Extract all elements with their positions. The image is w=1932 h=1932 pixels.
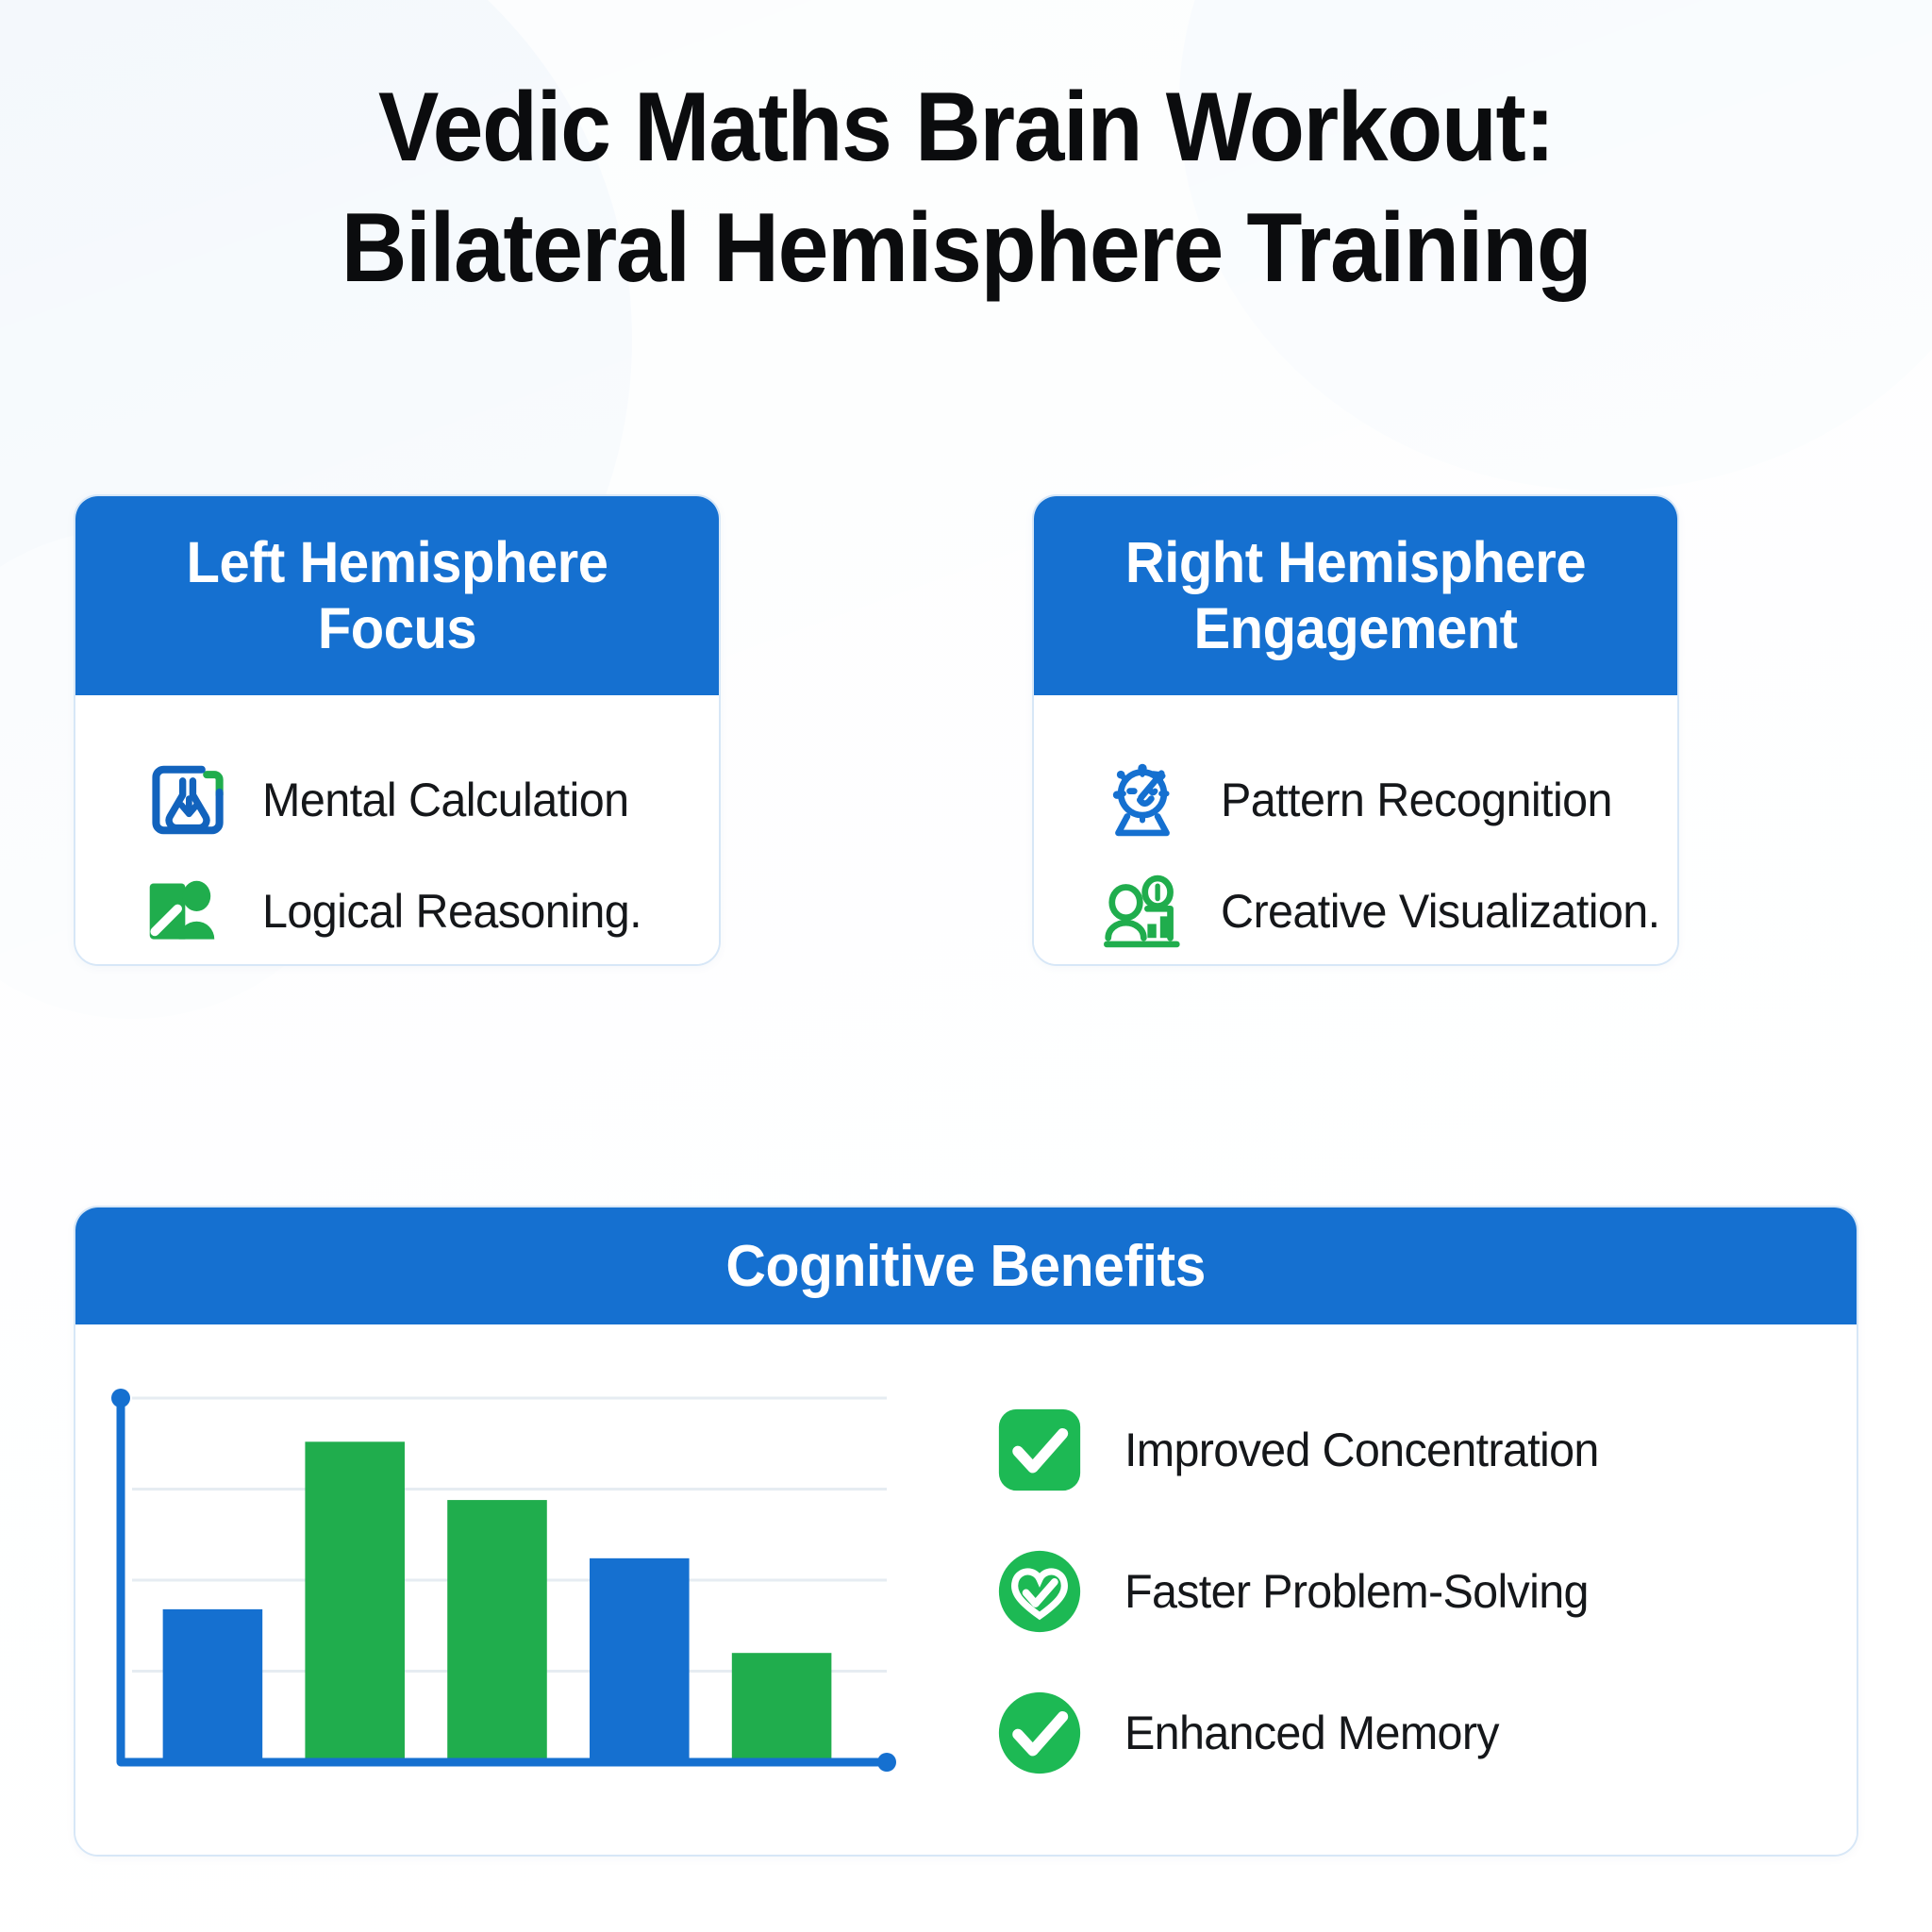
card-cognitive-benefits: Cognitive Benefits Improved Concentratio… [74,1206,1858,1857]
chart-bar-4 [590,1558,690,1762]
card-right-header: Right Hemisphere Engagement [1034,496,1677,695]
chart-bar-3 [447,1500,547,1762]
right-feature-list: Pattern Recognition [1034,695,1677,966]
card-left-body: Mental Calculation Logical Reasoning. [75,695,719,966]
chart-axis-cap-top [111,1389,130,1407]
list-item-label: Faster Problem-Solving [1124,1564,1589,1619]
page-title-line-1: Vedic Maths Brain Workout: [68,68,1865,189]
card-right-hemisphere: Right Hemisphere Engagement [1032,494,1679,966]
list-item[interactable]: Mental Calculation [75,744,719,856]
list-item[interactable]: Enhanced Memory [996,1662,1857,1804]
card-left-hemisphere: Left Hemisphere Focus Mental Calculation [74,494,721,966]
list-item[interactable]: Creative Visualization. [1034,856,1677,966]
card-left-header-text: Left Hemisphere Focus [124,530,671,661]
list-item-label: Creative Visualization. [1221,884,1660,939]
heart-check-circle-icon [996,1548,1083,1635]
list-item-label: Mental Calculation [262,773,629,827]
card-right-body: Pattern Recognition [1034,695,1677,966]
chart-bar-2 [305,1441,405,1762]
person-board-icon [143,871,225,952]
check-circle-icon [996,1690,1083,1776]
list-item[interactable]: Pattern Recognition [1034,744,1677,856]
list-item-label: Enhanced Memory [1124,1706,1499,1760]
person-idea-chart-icon [1102,871,1183,952]
chart-bar-1 [163,1609,263,1762]
card-benefits-header: Cognitive Benefits [75,1207,1857,1324]
list-item[interactable]: Improved Concentration [996,1379,1857,1521]
card-benefits-header-text: Cognitive Benefits [726,1233,1207,1300]
smiley-compass-icon [1102,759,1183,841]
card-left-header: Left Hemisphere Focus [75,496,719,695]
flask-document-icon [143,759,225,841]
left-feature-list: Mental Calculation Logical Reasoning. [75,695,719,966]
page-title: Vedic Maths Brain Workout: Bilateral Hem… [0,68,1932,309]
list-item[interactable]: Logical Reasoning. [75,856,719,966]
card-benefits-body: Improved Concentration Faster Problem-So… [75,1324,1857,1855]
infographic-page: Vedic Maths Brain Workout: Bilateral Hem… [0,0,1932,1932]
list-item-label: Pattern Recognition [1221,773,1612,827]
chart-bar-5 [732,1653,832,1762]
cognitive-benefits-bar-chart [75,1324,953,1855]
list-item-label: Logical Reasoning. [262,884,641,939]
page-title-line-2: Bilateral Hemisphere Training [68,189,1865,309]
list-item-label: Improved Concentration [1124,1423,1599,1477]
benefits-list: Improved Concentration Faster Problem-So… [953,1324,1857,1855]
chart-axis-cap-end [877,1753,896,1772]
card-right-header-text: Right Hemisphere Engagement [1082,530,1629,661]
bar-chart-svg [75,1368,953,1811]
check-square-icon [996,1407,1083,1493]
list-item[interactable]: Faster Problem-Solving [996,1521,1857,1662]
